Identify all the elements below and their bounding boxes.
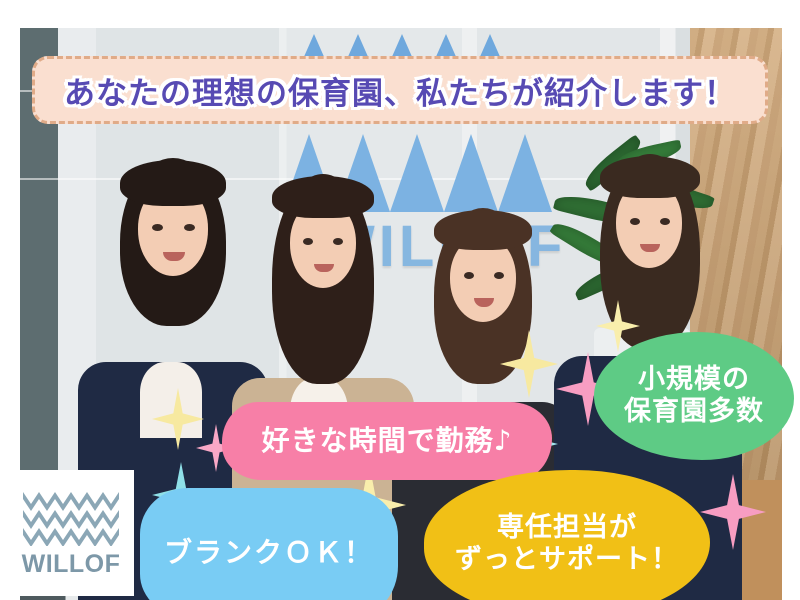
bubble-small-nursery[interactable]: 小規模の 保育園多数 [594,332,794,460]
willof-wordmark: WILLOF [22,550,121,579]
bubble-line: 好きな時間で勤務♪ [262,424,513,457]
bubble-flexible-hours[interactable]: 好きな時間で勤務♪ [222,402,552,480]
headline-banner: あなたの理想の保育園、私たちが紹介します！ [32,56,768,124]
willof-zigzag-icon [23,488,119,546]
ad-banner-canvas: WILLOF [0,0,800,600]
bubble-line: ブランクＯＫ！ [164,536,374,569]
bubble-line: 専任担当が [497,512,637,544]
bubble-line: ずっとサポート！ [455,544,679,576]
bubble-line: 小規模の [638,364,750,396]
willof-logo-card[interactable]: WILLOF [8,470,134,596]
bubble-blank-ok[interactable]: ブランクＯＫ！ [140,488,398,600]
bubble-line: 保育園多数 [624,396,764,428]
headline-text: あなたの理想の保育園、私たちが紹介します！ [64,68,736,113]
